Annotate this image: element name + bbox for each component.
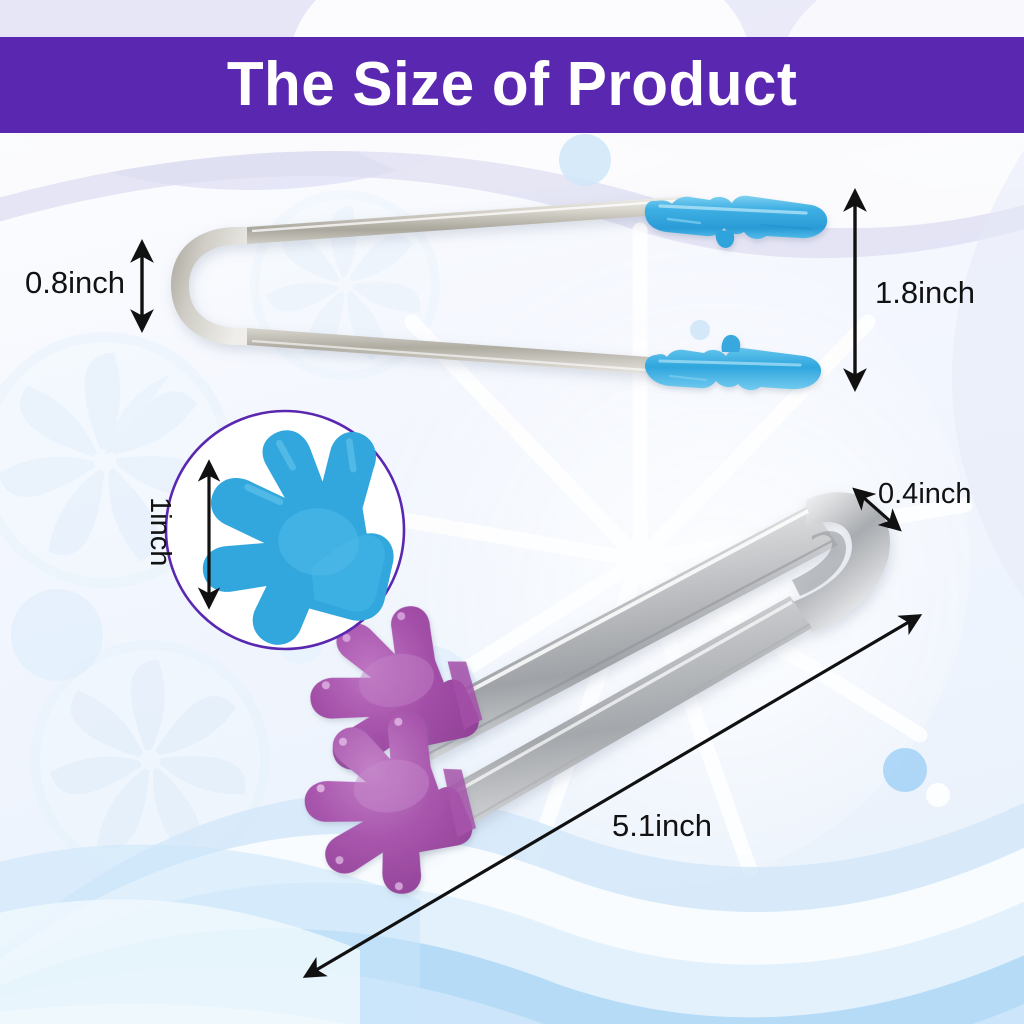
- dimension-label-1-8inch: 1.8inch: [875, 275, 975, 311]
- header-banner: The Size of Product: [0, 37, 1024, 133]
- arrow-5-1inch: [306, 616, 919, 976]
- page-title: The Size of Product: [227, 54, 798, 116]
- dimension-label-5-1inch: 5.1inch: [612, 808, 712, 844]
- dimension-label-0-4inch: 0.4inch: [878, 478, 972, 511]
- dimension-label-1inch: 1inch: [143, 497, 176, 566]
- product-size-infographic: The Size of Product 0.8inch 1.8inch 0.4i…: [0, 0, 1024, 1024]
- dimension-label-0-8inch: 0.8inch: [25, 265, 125, 301]
